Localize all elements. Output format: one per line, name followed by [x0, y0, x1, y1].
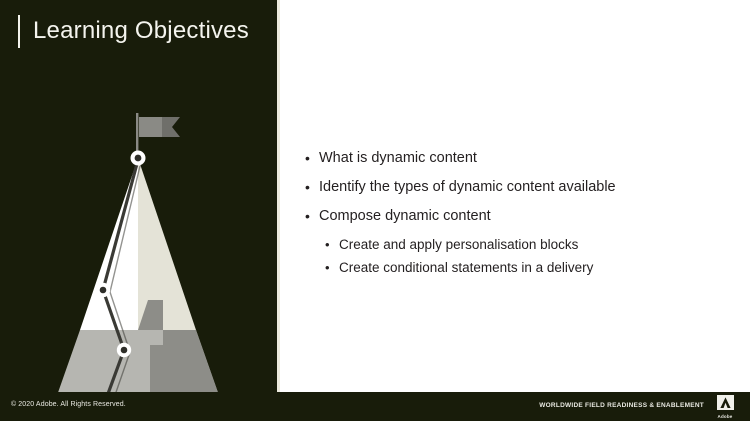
- left-panel: Learning Objectives: [0, 0, 277, 421]
- list-item: • Create conditional statements in a del…: [305, 258, 735, 278]
- waypoint-dot-middle: [100, 287, 107, 294]
- footer-bar: © 2020 Adobe. All Rights Reserved. WORLD…: [0, 392, 750, 421]
- slide: Learning Objectives • What is dynamic co…: [0, 0, 750, 421]
- bullet-icon: •: [305, 206, 319, 226]
- list-item: • Create and apply personalisation block…: [305, 235, 735, 255]
- tagline-label: WORLDWIDE FIELD READINESS & ENABLEMENT: [539, 402, 704, 409]
- list-item-label: What is dynamic content: [319, 148, 477, 168]
- title-label: Learning Objectives: [33, 17, 249, 45]
- page-title: Learning Objectives: [18, 12, 249, 50]
- bullet-icon: •: [305, 148, 319, 168]
- list-item-label: Compose dynamic content: [319, 206, 491, 226]
- bullet-icon: •: [325, 235, 339, 255]
- flag-banner-notch: [162, 117, 180, 137]
- copyright-label: © 2020 Adobe. All Rights Reserved.: [11, 401, 126, 408]
- adobe-wordmark: Adobe: [710, 414, 740, 419]
- list-item: • Identify the types of dynamic content …: [305, 177, 735, 197]
- list-item: • Compose dynamic content: [305, 206, 735, 226]
- mountain-illustration: [0, 0, 277, 421]
- list-item-label: Create and apply personalisation blocks: [339, 235, 578, 255]
- objectives-list: • What is dynamic content • Identify the…: [305, 148, 735, 281]
- title-accent-bar: [18, 15, 20, 48]
- adobe-a-icon: [717, 395, 734, 410]
- adobe-logo: Adobe: [710, 395, 740, 419]
- bullet-icon: •: [325, 258, 339, 278]
- panel-divider: [277, 0, 280, 392]
- waypoint-dot-summit: [135, 155, 142, 162]
- bullet-icon: •: [305, 177, 319, 197]
- waypoint-dot-lower: [121, 347, 128, 354]
- list-item: • What is dynamic content: [305, 148, 735, 168]
- flag-banner: [139, 117, 162, 137]
- list-item-label: Identify the types of dynamic content av…: [319, 177, 616, 197]
- list-item-label: Create conditional statements in a deliv…: [339, 258, 593, 278]
